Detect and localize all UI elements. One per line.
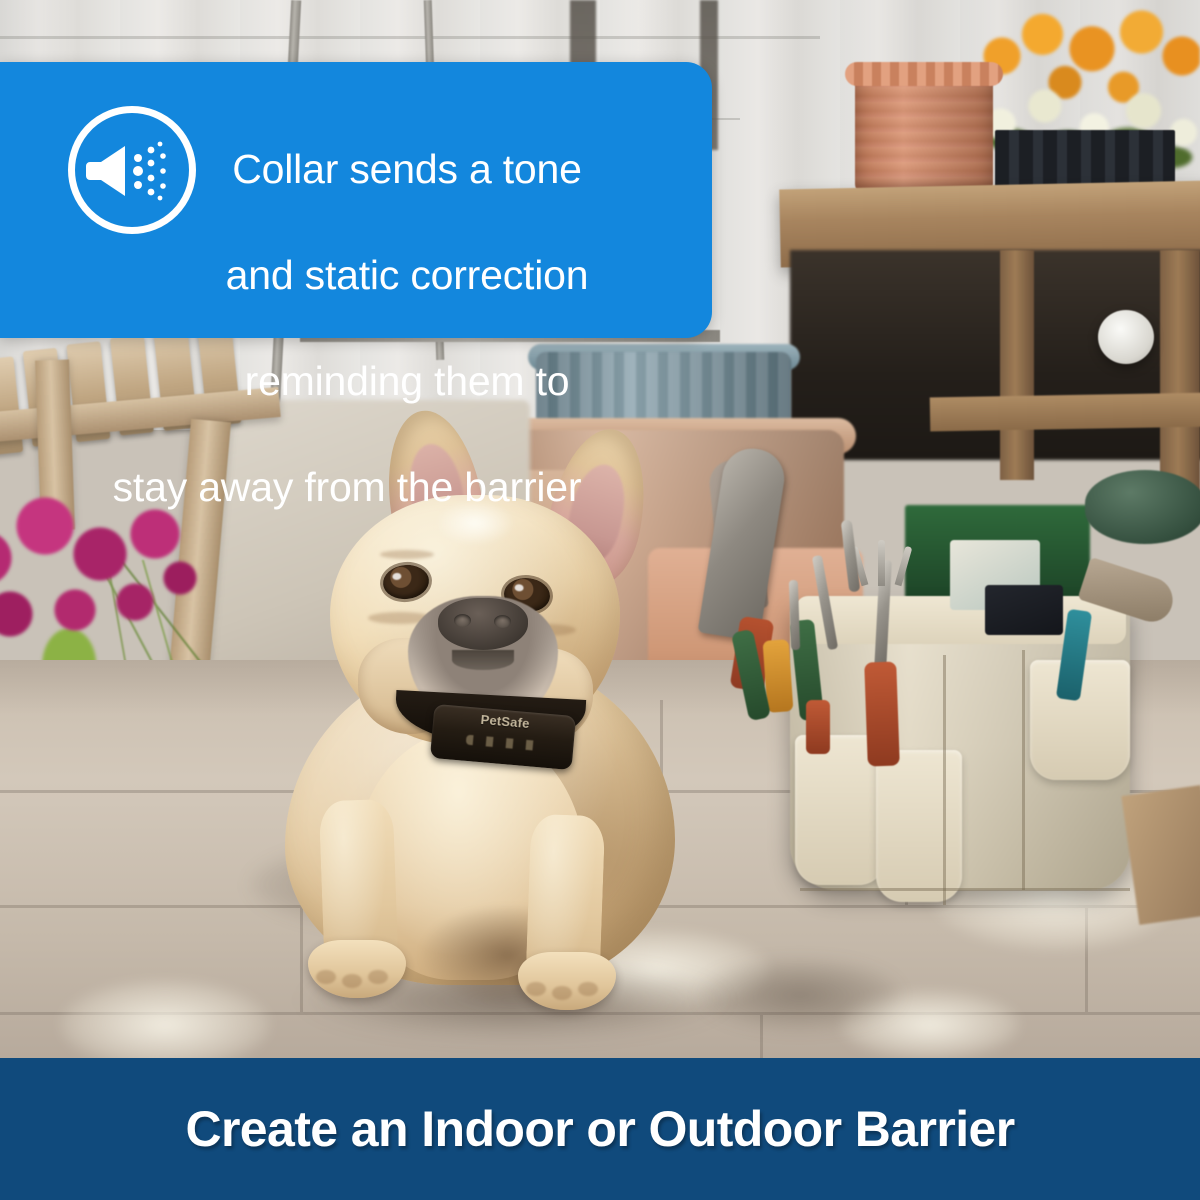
tool-grip-red — [806, 700, 830, 754]
dog-eye-glint — [392, 572, 402, 580]
dog-nose — [438, 598, 528, 650]
dog-toe — [526, 982, 546, 996]
tool-bag-seam — [800, 888, 1130, 891]
hand-fork-tine — [878, 540, 885, 586]
dog-toe — [368, 970, 388, 984]
dog-toe — [552, 986, 572, 1000]
feature-callout: Collar sends a tone and static correctio… — [0, 62, 712, 338]
terracotta-pot-rim — [845, 62, 1003, 86]
dog-mouth — [452, 650, 514, 670]
dog-toe — [578, 982, 598, 996]
dog-toe — [342, 974, 362, 988]
product-lifestyle-image: Garden Mum Chrysanthemum — [0, 0, 1200, 1200]
pouch-dark — [985, 585, 1063, 635]
dog-nostril — [494, 615, 511, 628]
hand-fork-handle — [864, 661, 900, 766]
callout-line-3: reminding them to — [0, 355, 694, 408]
terracotta-pot — [855, 72, 993, 194]
potting-bench-leg — [1000, 250, 1034, 480]
tool-bag-seam — [1022, 650, 1025, 890]
tool-bag-pocket — [876, 750, 962, 902]
wall-seam — [0, 36, 820, 39]
callout-text: Collar sends a tone and static correctio… — [0, 90, 712, 567]
bottom-banner: Create an Indoor or Outdoor Barrier — [0, 1058, 1200, 1200]
green-watering-can-lid — [1085, 470, 1200, 544]
tool-bag-seam — [943, 655, 946, 905]
dog-nostril — [454, 614, 471, 627]
dog-eye-glint — [514, 584, 524, 592]
callout-line-4: stay away from the barrier — [0, 461, 694, 514]
dog-toe — [316, 970, 336, 984]
potting-bench-shelf — [930, 393, 1200, 432]
tape-roll — [1098, 310, 1154, 364]
potting-bench-leg — [1160, 250, 1200, 500]
callout-line-1: Collar sends a tone — [0, 143, 694, 196]
callout-line-2: and static correction — [0, 249, 694, 302]
banner-title: Create an Indoor or Outdoor Barrier — [185, 1100, 1014, 1158]
